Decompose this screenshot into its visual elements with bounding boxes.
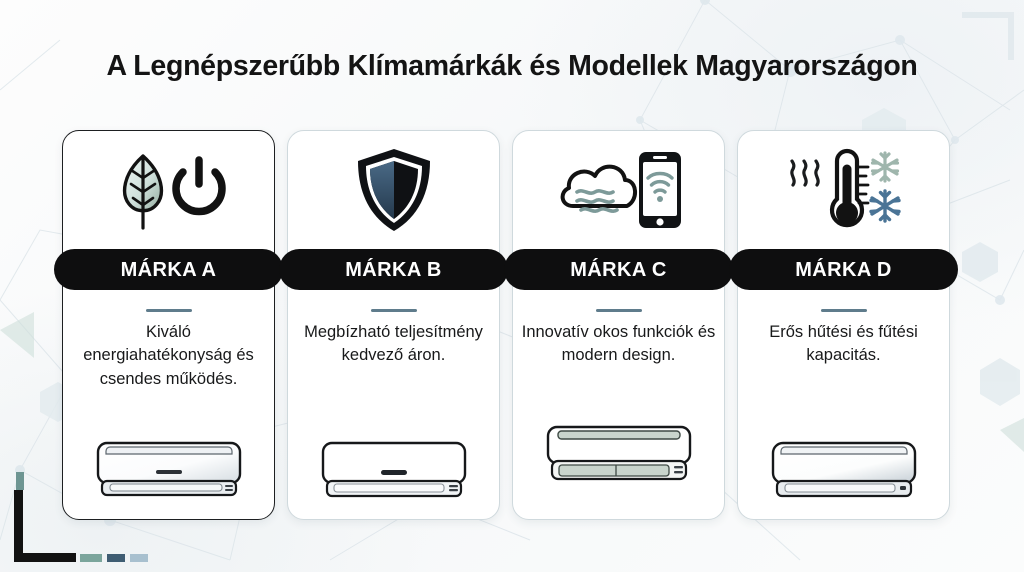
thermometer-icon xyxy=(832,151,868,225)
page-title: A Legnépszerűbb Klímamárkák és Modellek … xyxy=(0,50,1024,83)
split-ac-unit-icon xyxy=(769,437,919,503)
card-c-icon-group xyxy=(513,131,724,249)
card-c-description: Innovatív okos funkciók és modern design… xyxy=(521,321,716,368)
card-b-product-image xyxy=(288,411,499,503)
card-c-badge-label: MÁRKA C xyxy=(570,260,667,280)
leaf-icon xyxy=(124,156,161,228)
brand-card-list: MÁRKA A Kiváló energiahatékonyság és cse… xyxy=(62,130,962,520)
corner-dash-steel xyxy=(107,554,125,562)
split-ac-unit-icon xyxy=(94,437,244,503)
snowflake-icon xyxy=(872,153,897,181)
cloud-icon xyxy=(562,167,634,212)
card-d-icon-group xyxy=(738,131,949,249)
shield-icon-set xyxy=(350,145,438,235)
leaf-power-icon-set xyxy=(109,148,229,232)
split-ac-unit-icon xyxy=(319,437,469,503)
snowflake-icon xyxy=(871,191,899,221)
card-a-description: Kiváló energiahatékonyság és csendes műk… xyxy=(71,321,266,391)
brand-card-c[interactable]: MÁRKA C Innovatív okos funkciók és moder… xyxy=(512,130,725,520)
card-a-product-image xyxy=(63,411,274,503)
brand-card-d[interactable]: MÁRKA D Erős hűtési és fűtési kapacitás. xyxy=(737,130,950,520)
card-a-icon-group xyxy=(63,131,274,249)
card-d-divider xyxy=(821,309,867,312)
corner-dash-light xyxy=(130,554,148,562)
card-c-divider xyxy=(596,309,642,312)
card-d-description: Erős hűtési és fűtési kapacitás. xyxy=(746,321,941,368)
card-b-badge-label: MÁRKA B xyxy=(345,260,442,280)
card-b-divider xyxy=(371,309,417,312)
heat-waves-icon xyxy=(791,161,817,185)
card-c-banner: MÁRKA C xyxy=(504,249,733,290)
card-d-banner: MÁRKA D xyxy=(729,249,958,290)
card-b-icon-group xyxy=(288,131,499,249)
corner-bracket-horizontal xyxy=(14,553,76,562)
card-a-banner: MÁRKA A xyxy=(54,249,283,290)
corner-bracket-vertical xyxy=(14,490,23,558)
corner-accent-bar-horizontal xyxy=(962,12,1014,18)
cloud-smartphone-icon-set xyxy=(555,148,683,232)
smartphone-wifi-icon xyxy=(639,152,681,228)
card-b-banner: MÁRKA B xyxy=(279,249,508,290)
brand-card-b[interactable]: MÁRKA B Megbízható teljesítmény kedvező … xyxy=(287,130,500,520)
corner-dash-teal xyxy=(80,554,102,562)
card-c-product-image xyxy=(513,393,724,485)
card-d-product-image xyxy=(738,411,949,503)
split-ac-unit-icon xyxy=(544,423,694,485)
card-a-badge-label: MÁRKA A xyxy=(121,260,217,280)
thermometer-snowflake-icon-set xyxy=(781,147,907,233)
power-icon xyxy=(176,160,222,212)
card-a-divider xyxy=(146,309,192,312)
brand-card-a[interactable]: MÁRKA A Kiváló energiahatékonyság és cse… xyxy=(62,130,275,520)
card-b-description: Megbízható teljesítmény kedvező áron. xyxy=(296,321,491,368)
infographic-canvas: A Legnépszerűbb Klímamárkák és Modellek … xyxy=(0,0,1024,572)
corner-bracket-cap xyxy=(16,472,24,490)
shield-icon xyxy=(358,149,430,231)
card-d-badge-label: MÁRKA D xyxy=(795,260,892,280)
